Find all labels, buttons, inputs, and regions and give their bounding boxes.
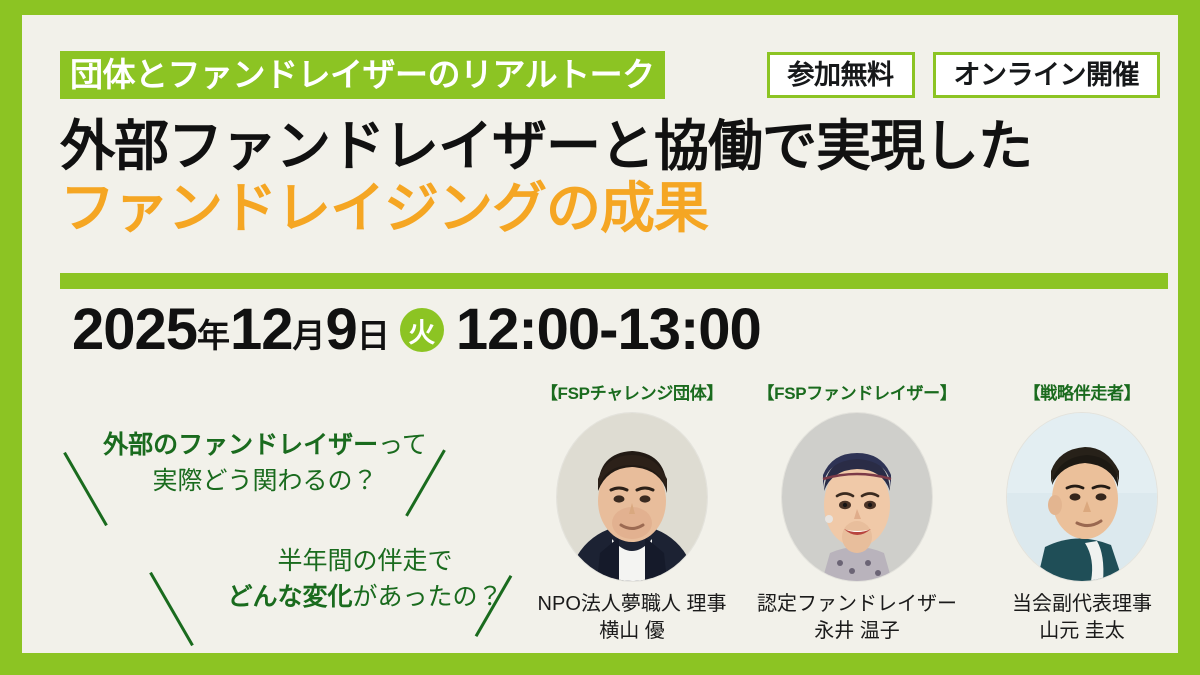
question-1-line-1-bold: 外部のファンドレイザー [103,431,378,459]
speaker-card-1: 【FSPチャレンジ団体】 [527,383,737,663]
badge-group: 参加無料 オンライン開催 [767,52,1161,98]
speaker-2-name: 永井 温子 [752,618,962,645]
question-block-2: 半年間の伴走で どんな変化があったの？ [200,543,530,615]
title-line-1: 外部ファンドレイザーと協働で実現した [60,115,1170,177]
speaker-card-3: 【戦略伴走者】 [977,383,1187,663]
question-2-line-1: 半年間の伴走で [200,543,530,579]
date-month-unit: 月 [293,304,326,368]
date-day-unit: 日 [357,304,390,368]
speaker-1-name: 横山 優 [527,618,737,645]
date-year-unit: 年 [197,304,230,368]
portrait-woman-headband-icon [782,413,932,581]
question-area: 外部のファンドレイザーって 実際どう関わるの？ 半年間の伴走で どんな変化があっ… [60,415,530,635]
question-block-1: 外部のファンドレイザーって 実際どう関わるの？ [100,427,430,499]
speaker-2-role: 【FSPファンドレイザー】 [752,383,962,405]
speaker-3-name: 山元 圭太 [977,618,1187,645]
event-time: 12:00-13:00 [456,298,761,362]
weekday-badge: 火 [400,308,444,352]
speaker-list: 【FSPチャレンジ団体】 [527,383,1187,663]
question-1-line-1: 外部のファンドレイザーって [100,427,430,463]
badge-online: オンライン開催 [933,52,1161,98]
banner-inner: 団体とファンドレイザーのリアルトーク 参加無料 オンライン開催 外部ファンドレイ… [22,15,1178,653]
header-row: 団体とファンドレイザーのリアルトーク 参加無料 オンライン開催 [60,51,1160,99]
title-line-2: ファンドレイジングの成果 [60,177,1170,239]
green-divider-bar [60,273,1168,289]
question-1-line-2: 実際どう関わるの？ [100,463,430,499]
date-year: 2025 [72,298,197,362]
question-2-line-2: どんな変化があったの？ [200,579,530,615]
date-month: 12 [230,298,293,362]
speaker-2-avatar [782,413,932,581]
portrait-man-navy-suit-icon [557,413,707,581]
question-2-line-2-thin: があったの？ [353,583,503,611]
question-1-line-1-thin: って [378,431,427,459]
badge-free: 参加無料 [767,52,915,98]
page-title: 外部ファンドレイザーと協働で実現した ファンドレイジングの成果 [60,115,1170,239]
speaker-3-title: 当会副代表理事 [977,591,1187,618]
speaker-1-avatar [557,413,707,581]
speaker-2-title: 認定ファンドレイザー [752,591,962,618]
banner-frame: 団体とファンドレイザーのリアルトーク 参加無料 オンライン開催 外部ファンドレイ… [0,0,1200,675]
event-datetime: 2025 年 12 月 9 日 火 12:00-13:00 [72,298,761,362]
speaker-1-role: 【FSPチャレンジ団体】 [527,383,737,405]
speaker-3-role: 【戦略伴走者】 [977,383,1187,405]
speaker-1-title: NPO法人夢職人 理事 [527,591,737,618]
speaker-card-2: 【FSPファンドレイザー】 [752,383,962,663]
portrait-man-teal-jacket-icon [1007,413,1157,581]
question-2-line-2-bold: どんな変化 [227,583,352,611]
kicker-tag: 団体とファンドレイザーのリアルトーク [60,51,665,99]
date-day: 9 [326,298,357,362]
speaker-3-avatar [1007,413,1157,581]
